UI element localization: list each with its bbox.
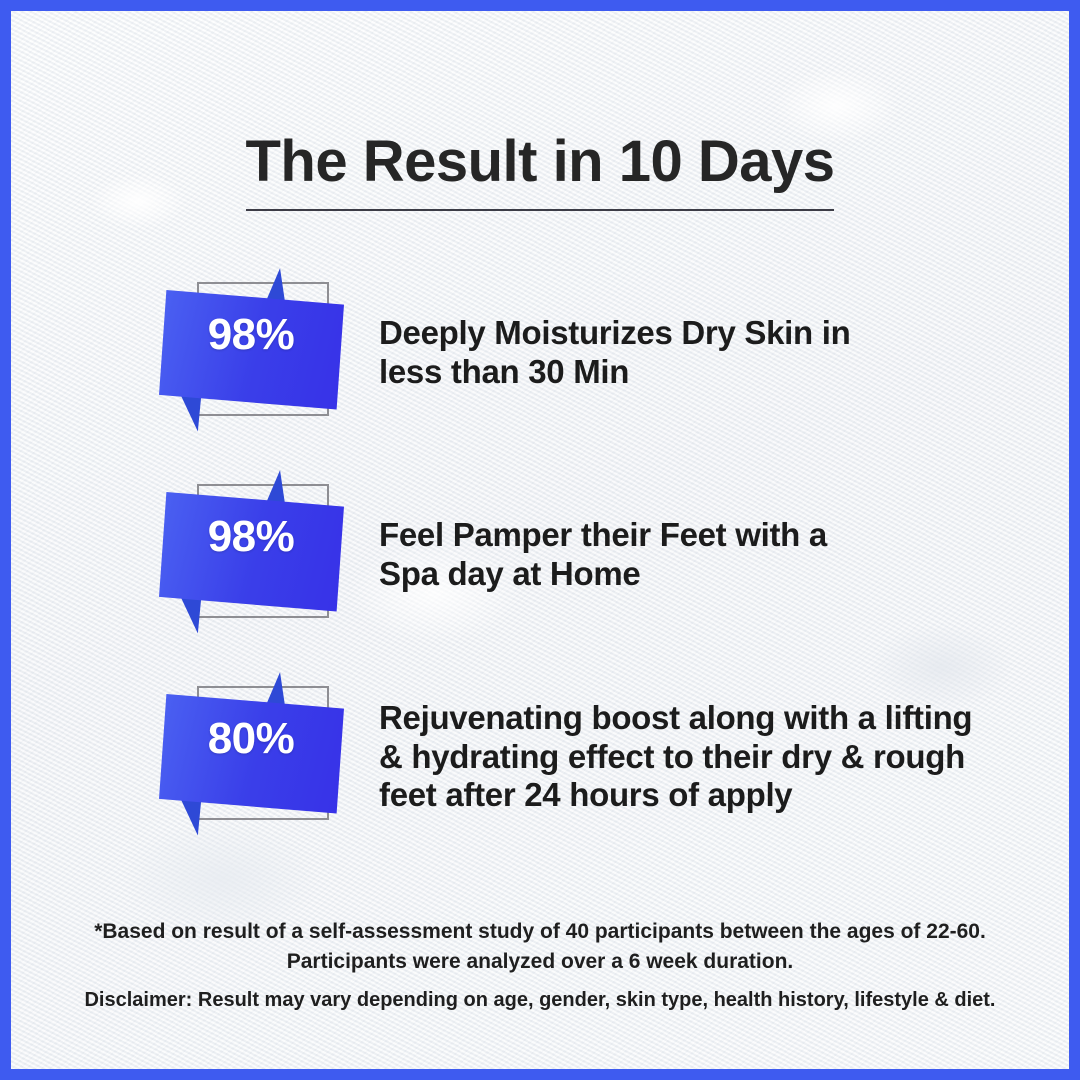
poster-content: The Result in 10 Days 98% Deeply Moistur…	[11, 11, 1069, 1069]
title-underline-rule	[246, 209, 834, 211]
study-footnote-line: *Based on result of a self-assessment st…	[11, 917, 1069, 947]
title-block: The Result in 10 Days	[11, 133, 1069, 211]
page-title: The Result in 10 Days	[245, 133, 834, 209]
study-footnote-line: Participants were analyzed over a 6 week…	[11, 947, 1069, 977]
disclaimer-text: Disclaimer: Result may vary depending on…	[11, 989, 1069, 1012]
result-row: 98% Deeply Moisturizes Dry Skin in less …	[151, 263, 1051, 443]
badge-percent-value: 98%	[151, 310, 351, 360]
result-description-line: less than 30 Min	[379, 353, 850, 392]
result-description-line: Rejuvenating boost along with a lifting	[379, 699, 972, 738]
percent-badge: 80%	[151, 670, 351, 845]
result-row: 98% Feel Pamper their Feet with a Spa da…	[151, 465, 1051, 645]
infographic-poster: The Result in 10 Days 98% Deeply Moistur…	[0, 0, 1080, 1080]
study-footnote: *Based on result of a self-assessment st…	[11, 917, 1069, 977]
result-description-line: Feel Pamper their Feet with a	[379, 516, 827, 555]
result-description-line: Spa day at Home	[379, 555, 827, 594]
badge-percent-value: 80%	[151, 714, 351, 764]
result-description: Feel Pamper their Feet with a Spa day at…	[379, 516, 827, 594]
result-description: Deeply Moisturizes Dry Skin in less than…	[379, 314, 850, 392]
result-description-line: Deeply Moisturizes Dry Skin in	[379, 314, 850, 353]
badge-percent-value: 98%	[151, 512, 351, 562]
result-description-line: feet after 24 hours of apply	[379, 776, 972, 815]
percent-badge: 98%	[151, 266, 351, 441]
result-description-line: & hydrating effect to their dry & rough	[379, 738, 972, 777]
result-description: Rejuvenating boost along with a lifting …	[379, 699, 972, 816]
percent-badge: 98%	[151, 468, 351, 643]
result-row: 80% Rejuvenating boost along with a lift…	[151, 667, 1051, 847]
